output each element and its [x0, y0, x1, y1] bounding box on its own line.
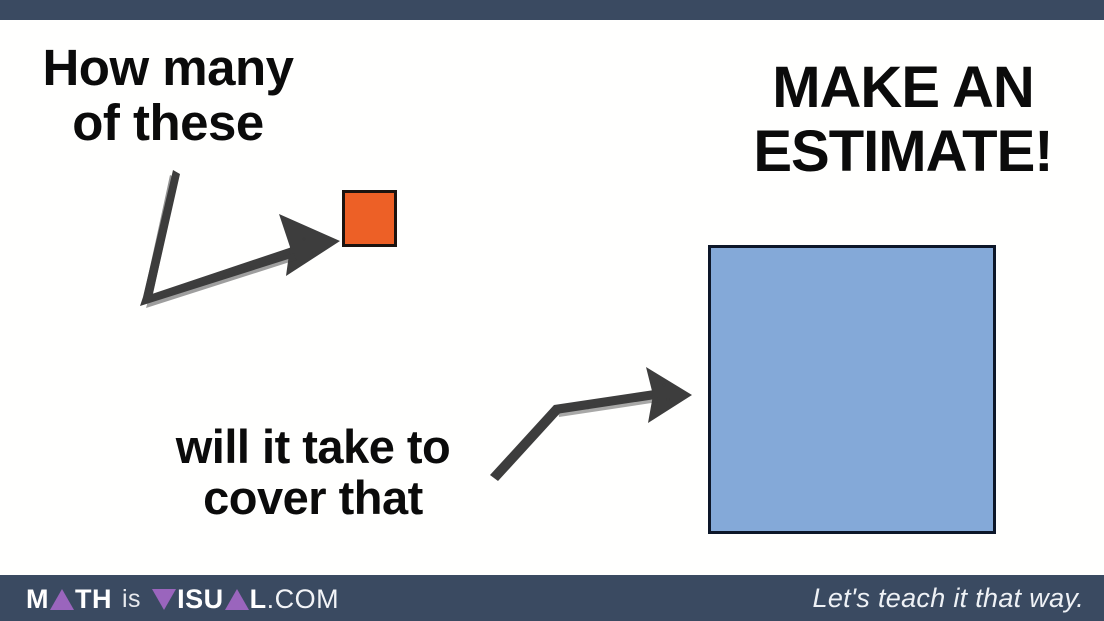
logo-visual-isu: ISU — [177, 586, 224, 613]
triangle-up-icon — [50, 589, 74, 610]
question-text-bottom: will it take to cover that — [148, 422, 478, 524]
logo-math-th: TH — [75, 586, 112, 613]
logo-domain: .COM — [267, 586, 340, 613]
slide-canvas: How many of these will it take to cover … — [0, 0, 1104, 621]
blue-target-square — [708, 245, 996, 534]
triangle-up-icon-2 — [225, 589, 249, 610]
call-to-action-heading: MAKE AN ESTIMATE! — [738, 56, 1068, 184]
logo-is: is — [122, 587, 141, 612]
question-text-top: How many of these — [18, 40, 318, 150]
arrow-pointing-to-orange-square-icon — [118, 155, 358, 330]
orange-unit-square — [342, 190, 397, 247]
logo-math-m: M — [26, 586, 49, 613]
logo-visual-l: L — [250, 586, 267, 613]
footer-tagline: Let's teach it that way. — [813, 585, 1085, 612]
site-logo[interactable]: M TH is ISU L .COM — [26, 584, 339, 614]
arrow-pointing-to-blue-square-icon — [478, 355, 703, 490]
top-accent-band — [0, 0, 1104, 20]
triangle-down-icon — [152, 589, 176, 610]
